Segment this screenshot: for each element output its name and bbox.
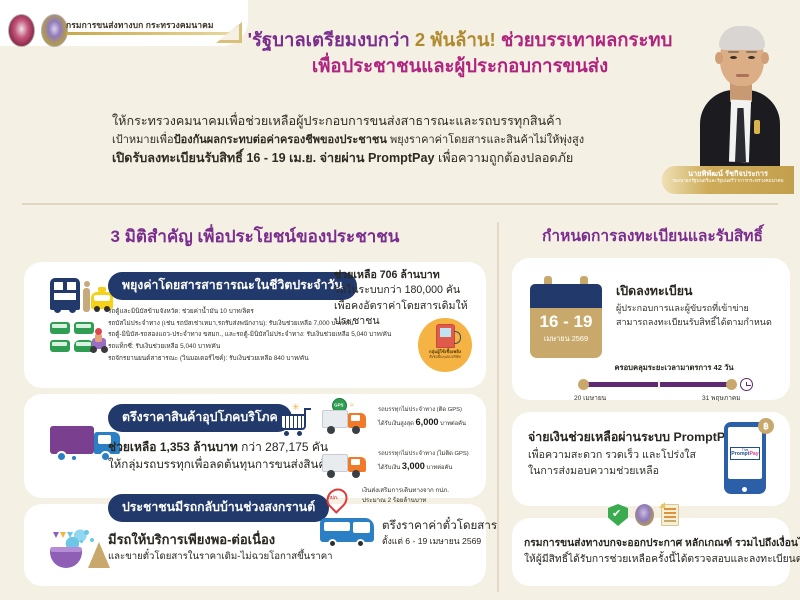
card2-side-label: ได้รับเงินสูงสุด [378, 421, 414, 427]
calendar-month: เมษายน 2569 [530, 333, 602, 345]
card2-side-row: รถบรรทุกไม่ประจำทาง (ไม่ติด GPS) ได้รับเ… [320, 444, 482, 488]
headline-part-b: 2 พันล้าน! [415, 29, 496, 50]
card-consumer-goods-prices: ตรึงราคาสินค้าอุปโภคบริโภค ✳ ช่วยเหลือ 1… [24, 394, 486, 498]
promptpay-text: จ่ายเงินช่วยเหลือผ่านระบบ PromptPay เพื่… [528, 428, 724, 480]
minister-portrait [684, 4, 792, 182]
left-section-title: 3 มิติสำคัญ เพื่อประโยชน์ของประชาชน [30, 223, 480, 250]
card2-count: กว่า 287,175 คัน [238, 440, 328, 454]
department-name: กรมการขนส่งทางบก กระทรวงคมนาคม [66, 18, 214, 32]
motorcycle-taxi-icon [90, 328, 108, 354]
card-songkran-travel: ประชาชนมีรถกลับบ้านช่วงสงกรานต์ มีรถให้บ… [24, 504, 486, 586]
card2-side-label: ได้รับเงิน [378, 465, 400, 471]
card1-highlight-count: รถในระบบกว่า 180,000 คัน [334, 283, 482, 298]
minister-name-plate: นายพิพัฒน์ รัชกิจประการ รองนายกรัฐมนตรีแ… [662, 166, 794, 194]
songthaew-icon [50, 340, 70, 352]
department-emblem-icon [41, 14, 68, 47]
body-line-2-c: พยุงราคาค่าโดยสารและสินค้าไม่ให้พุ่งสูง [387, 134, 584, 146]
card2-side-title: รถบรรทุกไม่ประจำทาง (ไม่ติด GPS) [378, 450, 482, 459]
signal-icon: ≈ [350, 402, 354, 409]
timeline-start-marker [578, 379, 589, 390]
fuel-pump-icon [436, 324, 455, 348]
card2-side-unit: บาทต่อคัน [440, 421, 466, 427]
heart-icon-label: กปภ. [328, 495, 338, 502]
card1-detail-item: รถแท็กซี่: รับเงินช่วยเหลือ 5,040 บาท/คั… [108, 341, 418, 353]
card2-amount: ช่วยเหลือ 1,353 ล้านบาท [108, 440, 238, 454]
headline-part-a: 'รัฐบาลเตรียมงบกว่า [248, 29, 415, 50]
body-line-1: ให้กระทรวงคมนาคมเพื่อช่วยเหลือผู้ประกอบก… [112, 112, 672, 132]
registration-detail-line-2: สามารถลงทะเบียนรับสิทธิ์ได้ตามกำหนด [616, 315, 782, 330]
timeline-labels: 20 เมษายน 31 พฤษภาคม [574, 392, 774, 406]
money-badge-icon: ฿ [758, 418, 774, 434]
headline-block: 'รัฐบาลเตรียมงบกว่า 2 พันล้าน! ช่วยบรรเท… [240, 27, 680, 80]
header: กรมการขนส่งทางบก กระทรวงคมนาคม 'รัฐบาลเต… [0, 0, 800, 205]
card1-detail-list: รถตู้และมินิบัสข้ามจังหวัด: ช่วยค่าน้ำมั… [108, 306, 418, 364]
promptpay-detail-line-1: เพื่อความสะดวก รวดเร็ว และโปร่งใส [528, 447, 724, 464]
vehicle-icon-cluster [50, 276, 106, 378]
card3-side-note: เงินส่งเสริมการเดินทางจาก กปภ. ประมาณ 2 … [362, 486, 449, 506]
minister-role: รองนายกรัฐมนตรีและรัฐมนตรีว่าการกระทรวงค… [662, 178, 794, 184]
timeline-end-label: 31 พฤษภาคม [702, 392, 741, 403]
clock-icon [740, 378, 753, 391]
timeline-start-label: 20 เมษายน [574, 392, 606, 403]
gold-rule-divider [66, 32, 231, 35]
card3-side-note-line-1: เงินส่งเสริมการเดินทางจาก กปภ. [362, 486, 449, 496]
calendar-day-range: 16 - 19 [530, 313, 602, 330]
registration-text: เปิดลงทะเบียน ผู้ประกอบการและผู้ขับรถที่… [616, 282, 782, 330]
card3-pill-label: ประชาชนมีรถกลับบ้านช่วงสงกรานต์ [108, 494, 329, 522]
body-line-3-a: เปิดรับลงทะเบียนรับสิทธิ์ 16 - 19 เม.ย. … [112, 151, 434, 165]
gold-arrow-inner-shape [219, 25, 239, 40]
promptpay-logo: Thai PromptPay [730, 447, 760, 460]
card1-detail-item: รถบัสไม่ประจำทาง (เช่น รถบัสเช่าเหมา,รถร… [108, 318, 418, 330]
water-bowl-icon [50, 550, 82, 568]
right-section-title: กำหนดการลงทะเบียนและรับสิทธิ์ [510, 223, 795, 248]
fuel-badge-line-2: ดีเซลอื่นๆแบบบริษัท [418, 355, 472, 360]
body-line-3: เปิดรับลงทะเบียนรับสิทธิ์ 16 - 19 เม.ย. … [112, 149, 672, 169]
notice-icon-group [608, 504, 679, 526]
bus-icon [50, 278, 80, 310]
card1-detail-item: รถตู้-มินิบัส-รถสองแถว-ประจำทาง ขสมก., แ… [108, 329, 418, 341]
minister-name: นายพิพัฒน์ รัชกิจประการ [662, 169, 794, 178]
card3-side-note-line-2: ประมาณ 2 ร้อยล้านบาท [362, 496, 449, 506]
headline-part-c: ช่วยบรรเทาผลกระทบ [496, 29, 673, 50]
sparkle-icon: ✳ [292, 402, 300, 413]
card3-main-line-2: และขายตั๋วโดยสารในราคาเดิม-ไม่ฉวยโอกาสขึ… [108, 550, 358, 564]
card1-detail-item: รถจักรยานยนต์สาธารณะ (วินมอเตอร์ไซค์): ร… [108, 353, 418, 365]
card-registration-schedule: 16 - 19 เมษายน 2569 เปิดลงทะเบียน ผู้ประ… [512, 258, 790, 400]
card1-highlight-amount: ช่วยเหลือ 706 ล้านบาท [334, 268, 482, 283]
timeline-caption: ครอบคลุมระยะเวลามาตรการ 42 วัน [574, 362, 774, 374]
card-official-notice: กรมการขนส่งทางบกจะออกประกาศ หลักเกณฑ์ รว… [512, 518, 790, 586]
headline-line-1: 'รัฐบาลเตรียมงบกว่า 2 พันล้าน! ช่วยบรรเท… [240, 27, 680, 53]
truck-with-gps-icon: GPS ≈ [322, 404, 376, 438]
card2-side-title: รถบรรทุกไม่ประจำทาง (ติด GPS) [378, 406, 482, 415]
fuel-group-badge: กลุ่มผู้ใช้เชื้อเพลิง ดีเซลอื่นๆแบบบริษั… [418, 318, 472, 372]
promptpay-logo-b: Pay [749, 451, 758, 457]
document-icon [661, 504, 679, 526]
sand-pagoda-icon [88, 542, 110, 568]
verified-shield-icon [608, 504, 628, 526]
songkran-festival-icon [50, 526, 112, 574]
card2-side-list: GPS ≈ รถบรรทุกไม่ประจำทาง (ติด GPS) ได้ร… [320, 400, 482, 488]
card2-amount-line: ช่วยเหลือ 1,353 ล้านบาท กว่า 287,175 คัน [108, 438, 348, 456]
body-line-3-b: เพื่อความถูกต้องปลอดภัย [434, 151, 573, 165]
notice-line-2: ให้ผู้มีสิทธิ์ได้รับการช่วยเหลือครั้งนี้… [524, 552, 780, 568]
card3-bus-line-2: ตั้งแต่ 6 - 19 เมษายน 2569 [382, 535, 490, 547]
card3-bus-line-1: ตรึงราคาค่าตั๋วโดยสาร [382, 518, 490, 535]
heart-icon: กปภ. [324, 486, 354, 514]
notice-line-1: กรมการขนส่งทางบกจะออกประกาศ หลักเกณฑ์ รว… [524, 536, 780, 552]
card2-side-unit: บาทต่อคัน [427, 465, 453, 471]
card2-pill-wrap: ตรึงราคาสินค้าอุปโภคบริโภค [108, 404, 292, 432]
card-public-transport-fares: พยุงค่าโดยสารสาธารณะในชีวิตประจำวัน ช่วย… [24, 262, 486, 388]
registration-detail-line-1: ผู้ประกอบการและผู้ขับรถที่เข้าข่าย [616, 301, 782, 316]
card2-purpose: ให้กลุ่มรถบรรทุกเพื่อลดต้นทุนการขนส่งสิน… [108, 456, 348, 474]
card1-pill-wrap: พยุงค่าโดยสารสาธารณะในชีวิตประจำวัน [108, 272, 357, 300]
timeline-end-marker [726, 379, 737, 390]
card2-main-text: ช่วยเหลือ 1,353 ล้านบาท กว่า 287,175 คัน… [108, 438, 348, 474]
header-separator [22, 203, 778, 205]
card2-side-amount-line: ได้รับเงินสูงสุด 6,000 บาทต่อคัน [378, 415, 482, 429]
notice-text: กรมการขนส่งทางบกจะออกประกาศ หลักเกณฑ์ รว… [524, 536, 780, 568]
measure-timeline: ครอบคลุมระยะเวลามาตรการ 42 วัน 20 เมษายน… [574, 362, 774, 406]
column-divider [497, 222, 499, 592]
card1-pill-label: พยุงค่าโดยสารสาธารณะในชีวิตประจำวัน [108, 272, 357, 300]
card2-pill-label: ตรึงราคาสินค้าอุปโภคบริโภค [108, 404, 292, 432]
card2-side-amount: 3,000 [402, 461, 425, 471]
promptpay-heading: จ่ายเงินช่วยเหลือผ่านระบบ PromptPay [528, 428, 724, 447]
calendar-icon: 16 - 19 เมษายน 2569 [530, 276, 602, 358]
smartphone-icon: Thai PromptPay [724, 422, 766, 494]
promptpay-logo-a: Prompt [731, 451, 749, 457]
card2-side-row: GPS ≈ รถบรรทุกไม่ประจำทาง (ติด GPS) ได้ร… [320, 400, 482, 444]
card3-pill-wrap: ประชาชนมีรถกลับบ้านช่วงสงกรานต์ [108, 494, 329, 522]
card1-detail-item: รถตู้และมินิบัสข้ามจังหวัด: ช่วยค่าน้ำมั… [108, 306, 418, 318]
official-seal-icon [635, 504, 654, 526]
body-line-2-b: ป้องกันผลกระทบต่อค่าครองชีพของประชาชน [174, 134, 387, 146]
infographic-page: กรมการขนส่งทางบก กระทรวงคมนาคม 'รัฐบาลเต… [0, 0, 800, 600]
header-body-text: ให้กระทรวงคมนาคมเพื่อช่วยเหลือผู้ประกอบก… [112, 112, 672, 168]
promptpay-detail-line-2: ในการส่งมอบความช่วยเหลือ [528, 463, 724, 480]
pedestrian-icon [83, 288, 90, 312]
body-line-2-a: เป้าหมายเพื่อ [112, 134, 174, 146]
card3-bus-text: ตรึงราคาค่าตั๋วโดยสาร ตั้งแต่ 6 - 19 เมษ… [382, 518, 490, 547]
body-line-2: เป้าหมายเพื่อป้องกันผลกระทบต่อค่าครองชีพ… [112, 132, 672, 149]
truck-without-gps-icon [322, 448, 376, 482]
registration-heading: เปิดลงทะเบียน [616, 282, 782, 301]
timeline-bar [574, 379, 774, 389]
card2-side-text: รถบรรทุกไม่ประจำทาง (ไม่ติด GPS) ได้รับเ… [378, 450, 482, 473]
intercity-bus-icon [320, 516, 378, 550]
shopping-cart-icon: ✳ [278, 402, 312, 436]
card2-side-amount: 6,000 [416, 417, 439, 427]
card2-side-amount-line: ได้รับเงิน 3,000 บาทต่อคัน [378, 459, 482, 473]
headline-line-2: เพื่อประชาชนและผู้ประกอบการขนส่ง [240, 53, 680, 79]
ministry-emblem-icon [8, 14, 35, 47]
card-promptpay-payment: จ่ายเงินช่วยเหลือผ่านระบบ PromptPay เพื่… [512, 412, 790, 506]
promptpay-logo-main: PromptPay [731, 452, 759, 457]
card2-side-text: รถบรรทุกไม่ประจำทาง (ติด GPS) ได้รับเงิน… [378, 406, 482, 429]
logo-group [8, 14, 68, 47]
van-icon [50, 322, 70, 334]
